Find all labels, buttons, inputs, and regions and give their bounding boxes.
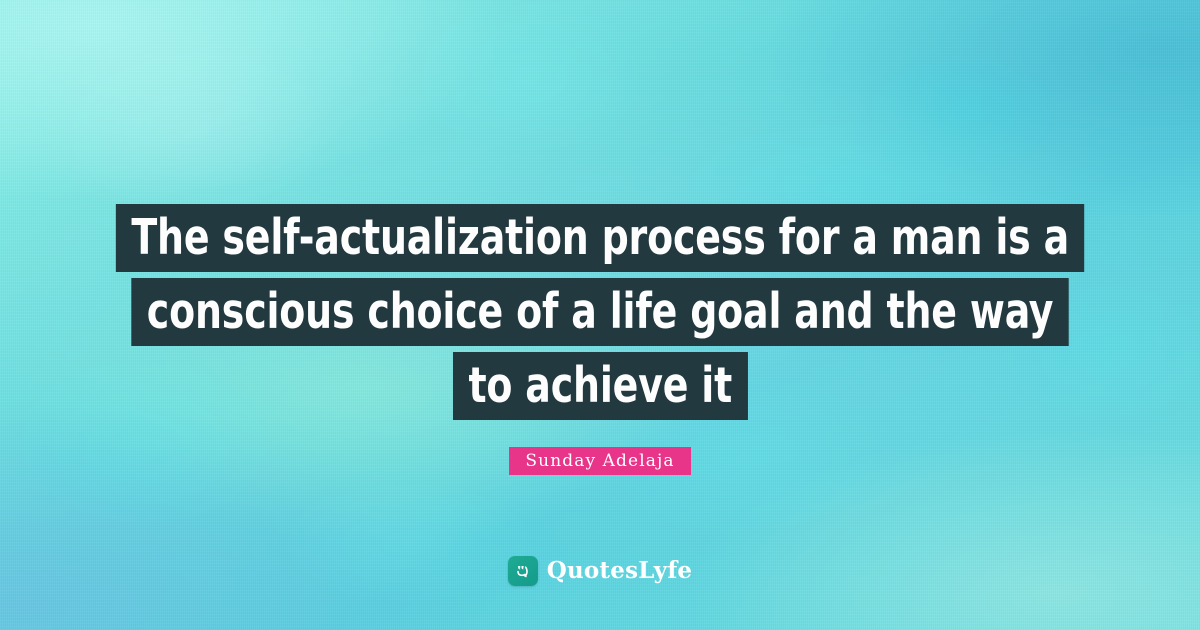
quote-line-2: conscious choice of a life goal and the … <box>131 278 1069 346</box>
quote-line-1: The self-actualization process for a man… <box>116 204 1085 272</box>
quote-line: The self-actualization process for a man… <box>0 204 1200 272</box>
quote-text-block: The self-actualization process for a man… <box>0 204 1200 420</box>
brand-footer[interactable]: QuotesLyfe <box>0 556 1200 586</box>
quote-line: conscious choice of a life goal and the … <box>0 278 1200 346</box>
quote-line-3: to achieve it <box>453 352 748 420</box>
quote-smiley-icon <box>508 556 538 586</box>
quote-card: The self-actualization process for a man… <box>0 0 1200 630</box>
quote-line: to achieve it <box>0 352 1200 420</box>
brand-name: QuotesLyfe <box>547 556 693 586</box>
author-badge: Sunday Adelaja <box>509 447 690 475</box>
author-row: Sunday Adelaja <box>0 447 1200 475</box>
